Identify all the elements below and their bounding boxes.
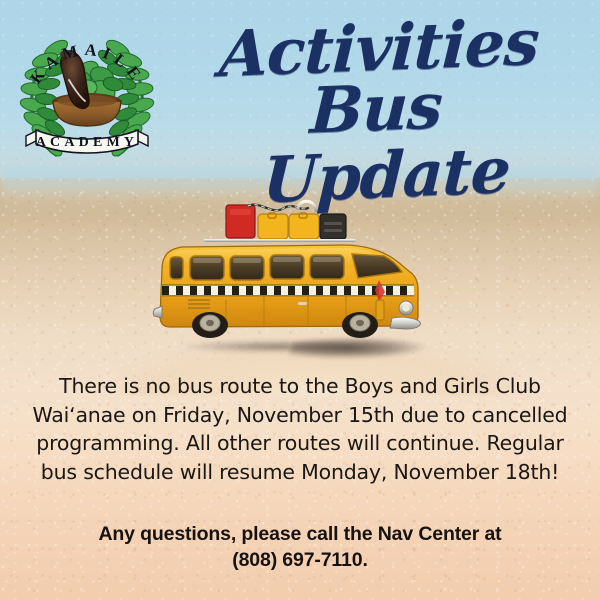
flyer-title: Activities Bus Update <box>165 18 590 178</box>
announcement-line-2: Waiʻanae on Friday, November 15th due to… <box>30 401 570 430</box>
kamaile-academy-logo: KAMAILE ACADEMY <box>16 18 158 164</box>
announcement-text: There is no bus route to the Boys and Gi… <box>30 372 570 486</box>
chrome-hoop <box>298 201 316 212</box>
bus-illustration <box>148 196 440 356</box>
announcement-line-1: There is no bus route to the Boys and Gi… <box>30 372 570 401</box>
bus-photo <box>148 196 440 356</box>
contact-phone: (808) 697-7110. <box>30 547 570 573</box>
dark-case <box>320 214 346 239</box>
logo-banner: ACADEMY <box>26 130 148 153</box>
title-line-1: Activities Bus <box>162 10 593 148</box>
front-bumper <box>390 317 420 329</box>
announcement-line-4: bus schedule will resume Monday, Novembe… <box>30 458 570 487</box>
rear-bumper <box>153 306 162 318</box>
announcement-line-3: programming. All other routes will conti… <box>30 429 570 458</box>
door-handle <box>298 302 307 305</box>
logo-svg: KAMAILE ACADEMY <box>16 18 158 164</box>
contact-text: Any questions, please call the Nav Cente… <box>30 521 570 573</box>
contact-line-1: Any questions, please call the Nav Cente… <box>30 521 570 547</box>
logo-banner-text: ACADEMY <box>36 135 139 150</box>
flyer-canvas: KAMAILE ACADEMY Activities Bus Update <box>0 0 600 600</box>
bus-body <box>153 245 420 338</box>
